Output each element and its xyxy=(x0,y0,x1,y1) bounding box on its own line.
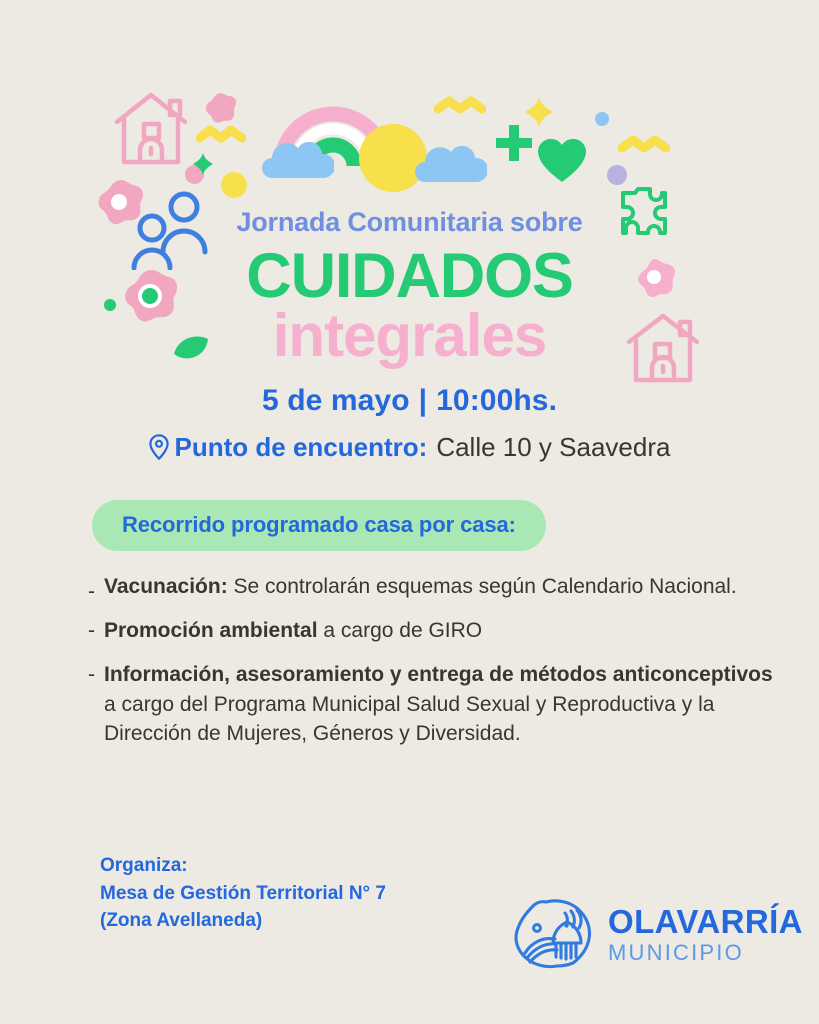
dot-icon xyxy=(185,165,204,184)
list-item-bold: Promoción ambiental xyxy=(104,619,318,642)
logo-subtitle: MUNICIPIO xyxy=(608,942,803,964)
meeting-point-label: Punto de encuentro: xyxy=(175,432,428,463)
house-outline-icon xyxy=(112,88,190,175)
olavarria-logo: OLAVARRÍA MUNICIPIO xyxy=(512,895,803,973)
list-item-text: Vacunación: Se controlarán esquemas segú… xyxy=(102,572,778,602)
dot-icon xyxy=(221,172,247,198)
heart-icon xyxy=(537,137,587,188)
meeting-point-value: Calle 10 y Saavedra xyxy=(436,432,670,463)
bullet-marker: - xyxy=(88,581,102,602)
event-date: 5 de mayo xyxy=(262,384,410,417)
bullet-marker: - xyxy=(88,660,102,690)
event-datetime: 5 de mayo|10:00hs. xyxy=(0,384,819,418)
bullet-marker: - xyxy=(88,616,102,646)
cloud-icon xyxy=(415,144,487,187)
dot-icon xyxy=(607,165,627,185)
organizer-line-2: (Zona Avellaneda) xyxy=(100,907,386,935)
event-time: 10:00hs. xyxy=(436,384,557,417)
rainbow-icon xyxy=(272,90,394,171)
activities-list: - Vacunación: Se controlarán esquemas se… xyxy=(88,572,778,749)
poster-title-main: CUIDADOS xyxy=(0,244,819,308)
olavarria-emblem-icon xyxy=(512,895,596,973)
list-item-rest: Se controlarán esquemas según Calendario… xyxy=(228,575,737,598)
zigzag-icon xyxy=(196,124,246,151)
sun-icon xyxy=(359,124,427,192)
list-item: - Vacunación: Se controlarán esquemas se… xyxy=(88,572,778,602)
dot-icon xyxy=(595,112,609,126)
logo-name: OLAVARRÍA xyxy=(608,905,803,938)
list-item-bold: Información, asesoramiento y entrega de … xyxy=(104,663,773,686)
meeting-point-row: Punto de encuentro: Calle 10 y Saavedra xyxy=(0,432,819,463)
poster-kicker: Jornada Comunitaria sobre xyxy=(0,208,819,238)
list-item-text: Información, asesoramiento y entrega de … xyxy=(102,660,778,749)
logo-wordmark: OLAVARRÍA MUNICIPIO xyxy=(608,905,803,964)
list-item-rest: a cargo del Programa Municipal Salud Sex… xyxy=(104,693,715,746)
list-item-rest: a cargo de GIRO xyxy=(318,619,483,642)
list-item: - Promoción ambiental a cargo de GIRO xyxy=(88,616,778,646)
location-pin-icon xyxy=(149,434,169,460)
organizer-label: Organiza: xyxy=(100,852,386,880)
organizer-block: Organiza: Mesa de Gestión Territorial N°… xyxy=(100,852,386,935)
zigzag-icon xyxy=(618,134,670,161)
datetime-separator: | xyxy=(410,384,437,417)
zigzag-icon xyxy=(434,95,486,122)
list-item: - Información, asesoramiento y entrega d… xyxy=(88,660,778,749)
poster-title-sub: integrales xyxy=(0,306,819,366)
list-item-text: Promoción ambiental a cargo de GIRO xyxy=(102,616,778,646)
plus-icon xyxy=(492,123,536,172)
organizer-line-1: Mesa de Gestión Territorial N° 7 xyxy=(100,880,386,908)
list-item-bold: Vacunación: xyxy=(104,575,228,598)
route-banner: Recorrido programado casa por casa: xyxy=(92,500,546,551)
route-banner-text: Recorrido programado casa por casa: xyxy=(122,512,516,538)
cloud-icon xyxy=(262,140,334,183)
poster-canvas: Jornada Comunitaria sobre CUIDADOS integ… xyxy=(0,0,819,1024)
flower-icon xyxy=(203,92,237,129)
sparkle-icon xyxy=(192,152,214,181)
sparkle-icon xyxy=(524,96,554,133)
header-block: Jornada Comunitaria sobre CUIDADOS integ… xyxy=(0,208,819,463)
